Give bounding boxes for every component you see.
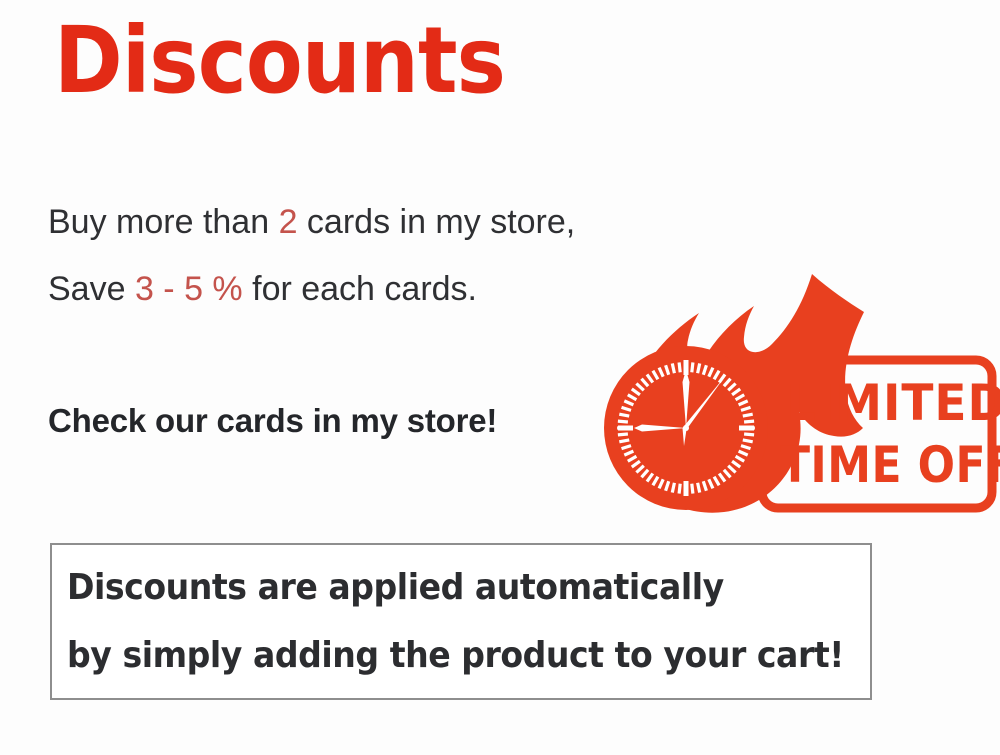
body-line-1-suffix: cards in my store, [297,203,575,241]
note-line-1: Discounts are applied automatically [67,567,724,608]
body-line-2: Save 3 - 5 % for each cards. [48,270,477,309]
body-line-2-prefix: Save [48,270,135,308]
badge-line-1: LIMITED [786,375,1000,433]
body-line-1-accent: 2 [279,203,298,241]
store-callout-headline: Check our cards in my store! [48,402,497,440]
promo-banner: Discounts Buy more than 2 cards in my st… [0,0,1000,755]
note-line-2: by simply adding the product to your car… [67,635,844,676]
page-title: Discounts [54,14,505,108]
body-line-1: Buy more than 2 cards in my store, [48,203,575,242]
clock-face [604,346,768,510]
body-line-1-prefix: Buy more than [48,203,279,241]
limited-time-offer-graphic: LIMITED TIME OFFER [596,262,1000,514]
discount-note-box: Discounts are applied automatically by s… [50,543,872,700]
badge-text: LIMITED TIME OFFER [780,375,1000,495]
body-line-2-accent: 3 - 5 % [135,270,243,308]
badge-line-2: TIME OFFER [780,436,1000,494]
clock-center-pin [683,425,689,431]
body-line-2-suffix: for each cards. [243,270,477,308]
